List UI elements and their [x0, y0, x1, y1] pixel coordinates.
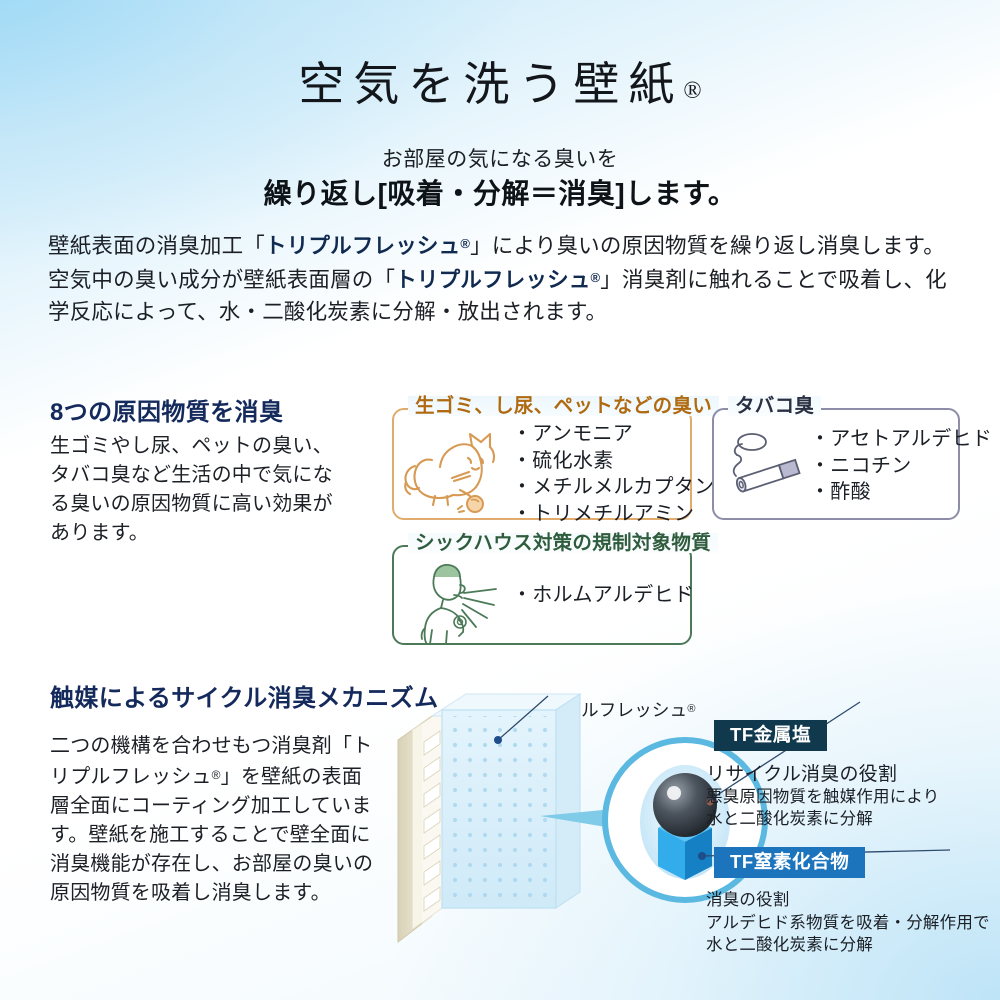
tf-nitrogen-description: 消臭の役割 アルデヒド系物質を吸着・分解作用で 水と二酸化炭素に分解: [706, 889, 990, 956]
registered-trademark-icon: ®: [212, 768, 221, 782]
odor-box-tobacco: タバコ臭 ・アセトアルデヒド ・ニコチン ・酢酸: [712, 408, 960, 520]
list-item: ・アセトアルデヒド: [810, 426, 992, 453]
tf-metal-salt-detail-line-1: 悪臭原因物質を触媒作用により: [706, 786, 939, 808]
subtitle-line-1: お部屋の気になる臭いを: [0, 143, 1000, 173]
tf-metal-salt-role: リサイクル消臭の役割: [706, 763, 939, 786]
odor-box-sick-house-items: ・ホルムアルデヒド: [512, 582, 694, 609]
list-item: ・トリメチルアミン: [512, 501, 714, 528]
tf-nitrogen-role: 消臭の役割: [706, 889, 990, 912]
list-item: ・アンモニア: [512, 421, 714, 448]
leader-dot: [494, 736, 502, 744]
leader-dot: [698, 852, 706, 860]
list-item: ・ニコチン: [810, 453, 992, 480]
cigarette-icon: [722, 432, 808, 502]
tf-metal-salt-detail-line-2: 水と二酸化炭素に分解: [706, 808, 939, 830]
list-item: ・硫化水素: [512, 448, 714, 475]
badge-tf-metal-salt: TF金属塩: [714, 720, 827, 751]
tf-metal-salt-description: リサイクル消臭の役割 悪臭原因物質を触媒作用により 水と二酸化炭素に分解: [706, 763, 939, 830]
section-body-mechanism: 二つの機構を合わせもつ消臭剤「トリプルフレッシュ®」を壁紙の表面層全面にコーティ…: [50, 732, 380, 908]
subtitle-line-2: 繰り返し[吸着・分解＝消臭]します。: [0, 172, 1000, 212]
odor-box-kitchen-pet: 生ゴミ、し尿、ペットなどの臭い: [392, 408, 692, 520]
section-heading-mechanism: 触媒によるサイクル消臭メカニズム: [50, 678, 438, 713]
brand-name-2: トリプルフレッシュ®: [395, 268, 600, 292]
page-title: 空気を洗う壁紙®: [0, 48, 1000, 114]
registered-trademark-icon: ®: [591, 270, 601, 285]
section-heading-substances: 8つの原因物質を消臭: [50, 392, 283, 427]
mech-body-part-1: 二つの機構を合わせもつ消臭剤「: [50, 735, 352, 757]
brand-name-2-text: トリプルフレッシュ: [395, 268, 590, 292]
tf-nitrogen-detail-line-2: 水と二酸化炭素に分解: [706, 934, 990, 956]
list-item: ・ホルムアルデヒド: [512, 582, 694, 609]
coughing-person-icon: [410, 560, 502, 644]
odor-box-kitchen-pet-items: ・アンモニア ・硫化水素 ・メチルメルカプタン ・トリメチルアミン: [512, 421, 714, 527]
cat-icon: [402, 430, 506, 514]
odor-box-tobacco-items: ・アセトアルデヒド ・ニコチン ・酢酸: [810, 426, 992, 506]
registered-trademark-icon: ®: [683, 78, 701, 104]
odor-box-sick-house: シックハウス対策の規制対象物質: [392, 545, 692, 645]
tf-nitrogen-detail-line-1: アルデヒド系物質を吸着・分解作用で: [706, 912, 990, 934]
infographic-page: 空気を洗う壁紙® お部屋の気になる臭いを 繰り返し[吸着・分解＝消臭]します。 …: [0, 0, 1000, 1000]
list-item: ・メチルメルカプタン: [512, 474, 714, 501]
brand-name-1-text: トリプルフレッシュ: [265, 234, 460, 258]
brand-name-1: トリプルフレッシュ®: [265, 234, 470, 258]
odor-box-tobacco-title: タバコ臭: [728, 396, 821, 416]
page-title-text: 空気を洗う壁紙: [298, 59, 683, 110]
intro-paragraph: 壁紙表面の消臭加工「トリプルフレッシュ®」により臭いの原因物質を繰り返し消臭しま…: [48, 228, 954, 328]
registered-trademark-icon: ®: [460, 236, 470, 251]
odor-box-kitchen-pet-title: 生ゴミ、し尿、ペットなどの臭い: [408, 396, 719, 416]
intro-part-1: 壁紙表面の消臭加工「: [48, 234, 265, 258]
list-item: ・酢酸: [810, 479, 992, 506]
badge-tf-nitrogen-compound: TF窒素化合物: [714, 847, 865, 878]
odor-box-sick-house-title: シックハウス対策の規制対象物質: [408, 533, 718, 553]
section-body-substances: 生ゴミやし尿、ペットの臭い、タバコ臭など生活の中で気になる臭いの原因物質に高い効…: [50, 432, 350, 548]
